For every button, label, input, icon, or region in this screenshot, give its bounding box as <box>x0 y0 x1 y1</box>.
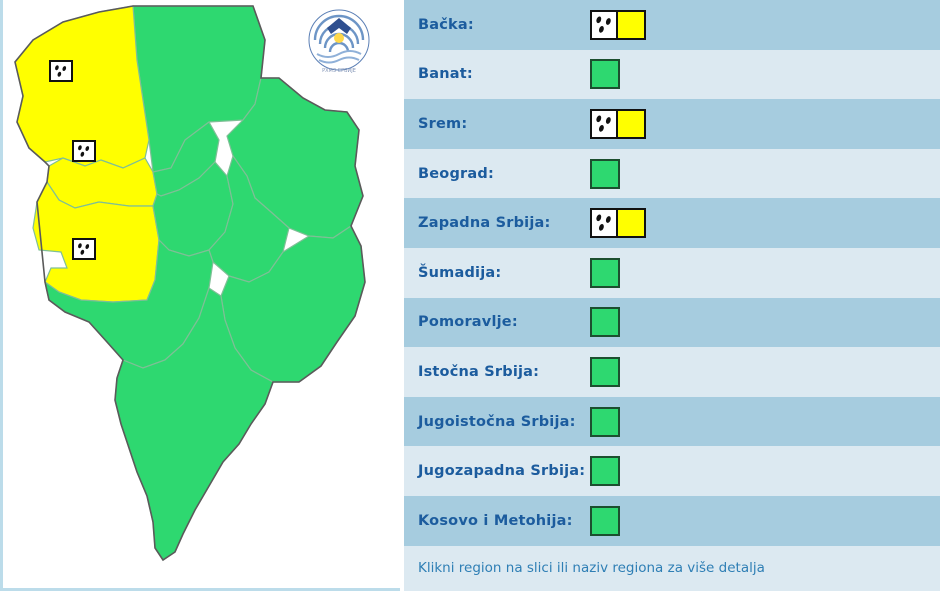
region-name-pomoravlje[interactable]: Pomoravlje: <box>418 314 590 330</box>
warning-level-swatch-green[interactable] <box>590 506 620 536</box>
list-item[interactable]: Srem: <box>404 99 940 149</box>
warning-level-swatch-yellow[interactable] <box>616 10 646 40</box>
map-region-srem[interactable] <box>47 158 157 208</box>
rain-icon <box>592 12 616 38</box>
region-name-zapadna-srbija[interactable]: Zapadna Srbija: <box>418 215 590 231</box>
rain-icon <box>51 62 71 80</box>
rain-icon-box <box>590 208 616 238</box>
rain-icon-box <box>590 10 616 40</box>
warning-level-swatch-green[interactable] <box>590 407 620 437</box>
list-item[interactable]: Jugoistočna Srbija: <box>404 397 940 447</box>
list-item[interactable]: Jugozapadna Srbija: <box>404 446 940 496</box>
list-item[interactable]: Istočna Srbija: <box>404 347 940 397</box>
warning-level-swatch-green[interactable] <box>590 59 620 89</box>
rain-icon <box>592 210 616 236</box>
serbia-warning-map[interactable]: РХМЗ СРБИЈЕ <box>0 0 400 591</box>
region-name-jugozapadna-srbija[interactable]: Jugozapadna Srbija: <box>418 463 590 479</box>
region-name-jugoistocna-srbija[interactable]: Jugoistočna Srbija: <box>418 414 590 430</box>
region-name-sumadija[interactable]: Šumadija: <box>418 265 590 281</box>
list-item[interactable]: Beograd: <box>404 149 940 199</box>
region-warning-list: Bačka: Banat: <box>404 0 940 591</box>
warning-level-swatch-green[interactable] <box>590 456 620 486</box>
warning-level-swatch-green[interactable] <box>590 357 620 387</box>
region-name-backa[interactable]: Bačka: <box>418 17 590 33</box>
warning-level-swatch-yellow[interactable] <box>616 109 646 139</box>
list-item[interactable]: Zapadna Srbija: <box>404 198 940 248</box>
warning-swatches <box>590 506 620 536</box>
warning-swatches <box>590 407 620 437</box>
warning-level-swatch-yellow[interactable] <box>616 208 646 238</box>
weather-warning-page: РХМЗ СРБИЈЕ <box>0 0 940 591</box>
serbia-map-svg[interactable] <box>3 0 400 591</box>
rain-icon <box>74 240 94 258</box>
region-name-banat[interactable]: Banat: <box>418 66 590 82</box>
map-regions <box>15 6 365 560</box>
warning-swatches <box>590 208 646 238</box>
rain-icon <box>592 111 616 137</box>
warning-swatches <box>590 59 620 89</box>
region-name-beograd[interactable]: Beograd: <box>418 166 590 182</box>
region-name-istocna-srbija[interactable]: Istočna Srbija: <box>418 364 590 380</box>
warning-level-swatch-green[interactable] <box>590 307 620 337</box>
footer-note-text: Klikni region na slici ili naziv regiona… <box>418 560 765 576</box>
warning-swatches <box>590 10 646 40</box>
svg-text:РХМЗ СРБИЈЕ: РХМЗ СРБИЈЕ <box>322 68 356 74</box>
rain-icon-box <box>590 109 616 139</box>
warning-swatches <box>590 307 620 337</box>
warning-swatches <box>590 456 620 486</box>
warning-swatches <box>590 357 620 387</box>
list-item[interactable]: Bačka: <box>404 0 940 50</box>
region-name-kosovo-i-metohija[interactable]: Kosovo i Metohija: <box>418 513 590 529</box>
rhmz-logo-icon: РХМЗ СРБИЈЕ <box>303 4 375 80</box>
rhmz-logo: РХМЗ СРБИЈЕ <box>303 4 375 80</box>
rain-icon <box>74 142 94 160</box>
region-name-srem[interactable]: Srem: <box>418 116 590 132</box>
map-marker-backa[interactable] <box>49 60 73 82</box>
warning-level-swatch-green[interactable] <box>590 258 620 288</box>
list-item[interactable]: Šumadija: <box>404 248 940 298</box>
map-marker-srem[interactable] <box>72 140 96 162</box>
map-marker-zapadna-srbija[interactable] <box>72 238 96 260</box>
warning-swatches <box>590 258 620 288</box>
list-item[interactable]: Banat: <box>404 50 940 100</box>
warning-swatches <box>590 159 620 189</box>
footer-note: Klikni region na slici ili naziv regiona… <box>404 546 940 590</box>
list-item[interactable]: Kosovo i Metohija: <box>404 496 940 546</box>
warning-level-swatch-green[interactable] <box>590 159 620 189</box>
warning-swatches <box>590 109 646 139</box>
list-item[interactable]: Pomoravlje: <box>404 298 940 348</box>
